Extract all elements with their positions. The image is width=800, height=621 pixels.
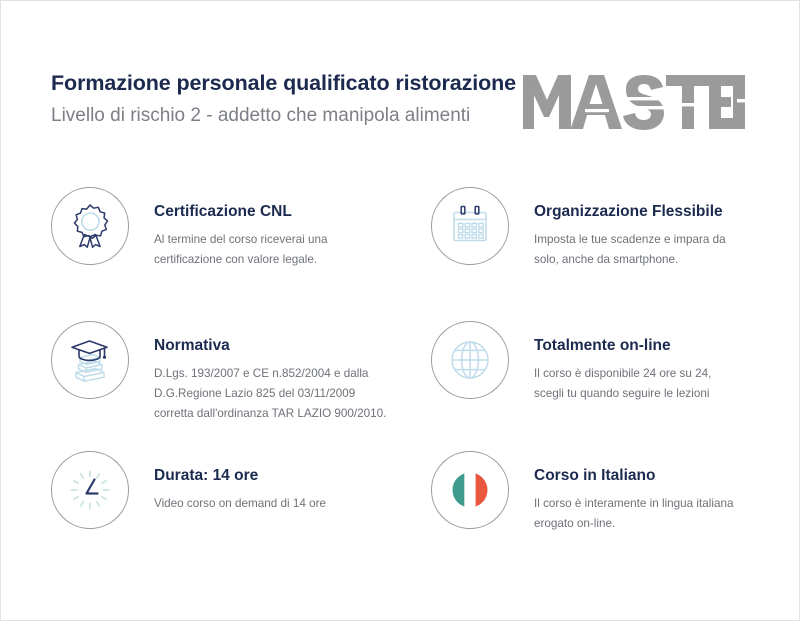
feature-text: Durata: 14 ore Video corso on demand di …	[154, 451, 326, 514]
feature-organizzazione-flessibile: Organizzazione Flessibile Imposta le tue…	[431, 187, 761, 321]
feature-title: Corso in Italiano	[534, 467, 733, 486]
feature-title: Normativa	[154, 337, 386, 356]
feature-totalmente-online: Totalmente on-line Il corso è disponibil…	[431, 321, 761, 451]
master-logo	[523, 73, 745, 131]
desc-line: D.G.Regione Lazio 825 del 03/11/2009	[154, 384, 386, 404]
desc-line: erogato on-line.	[534, 514, 733, 534]
header-text-block: Formazione personale qualificato ristora…	[51, 71, 516, 127]
desc-line: corretta dall'ordinanza TAR LAZIO 900/20…	[154, 404, 386, 424]
feature-certificazione-cnl: Certificazione CNL Al termine del corso …	[51, 187, 431, 321]
feature-text: Normativa D.Lgs. 193/2007 e CE n.852/200…	[154, 321, 386, 424]
graduation-cap-books-icon	[51, 321, 129, 399]
desc-line: solo, anche da smartphone.	[534, 250, 726, 270]
desc-line: Al termine del corso riceverai una	[154, 230, 327, 250]
feature-durata: Durata: 14 ore Video corso on demand di …	[51, 451, 431, 561]
header: Formazione personale qualificato ristora…	[1, 71, 800, 151]
feature-description: D.Lgs. 193/2007 e CE n.852/2004 e dalla …	[154, 364, 386, 424]
desc-line: Il corso è interamente in lingua italian…	[534, 494, 733, 514]
feature-description: Al termine del corso riceverai una certi…	[154, 230, 327, 270]
globe-icon	[431, 321, 509, 399]
clock-icon	[51, 451, 129, 529]
feature-row: Certificazione CNL Al termine del corso …	[51, 187, 761, 321]
feature-title: Certificazione CNL	[154, 203, 327, 222]
feature-text: Certificazione CNL Al termine del corso …	[154, 187, 327, 270]
feature-description: Il corso è disponibile 24 ore su 24, sce…	[534, 364, 711, 404]
desc-line: D.Lgs. 193/2007 e CE n.852/2004 e dalla	[154, 364, 386, 384]
page-title: Formazione personale qualificato ristora…	[51, 71, 516, 96]
page-subtitle: Livello di rischio 2 - addetto che manip…	[51, 105, 516, 127]
promo-card: Formazione personale qualificato ristora…	[0, 0, 800, 621]
feature-title: Totalmente on-line	[534, 337, 711, 356]
feature-text: Organizzazione Flessibile Imposta le tue…	[534, 187, 726, 270]
italian-flag-icon	[431, 451, 509, 529]
calendar-icon	[431, 187, 509, 265]
desc-line: certificazione con valore legale.	[154, 250, 327, 270]
feature-description: Imposta le tue scadenze e impara da solo…	[534, 230, 726, 270]
desc-line: Video corso on demand di 14 ore	[154, 494, 326, 514]
feature-corso-in-italiano: Corso in Italiano Il corso è interamente…	[431, 451, 761, 561]
feature-text: Totalmente on-line Il corso è disponibil…	[534, 321, 711, 404]
feature-row: Normativa D.Lgs. 193/2007 e CE n.852/200…	[51, 321, 761, 451]
desc-line: Imposta le tue scadenze e impara da	[534, 230, 726, 250]
feature-normativa: Normativa D.Lgs. 193/2007 e CE n.852/200…	[51, 321, 431, 451]
feature-row: Durata: 14 ore Video corso on demand di …	[51, 451, 761, 561]
feature-title: Organizzazione Flessibile	[534, 203, 726, 222]
desc-line: Il corso è disponibile 24 ore su 24,	[534, 364, 711, 384]
desc-line: scegli tu quando seguire le lezioni	[534, 384, 711, 404]
award-ribbon-icon	[51, 187, 129, 265]
feature-description: Il corso è interamente in lingua italian…	[534, 494, 733, 534]
feature-text: Corso in Italiano Il corso è interamente…	[534, 451, 733, 534]
feature-description: Video corso on demand di 14 ore	[154, 494, 326, 514]
feature-grid: Certificazione CNL Al termine del corso …	[51, 187, 761, 561]
feature-title: Durata: 14 ore	[154, 467, 326, 486]
